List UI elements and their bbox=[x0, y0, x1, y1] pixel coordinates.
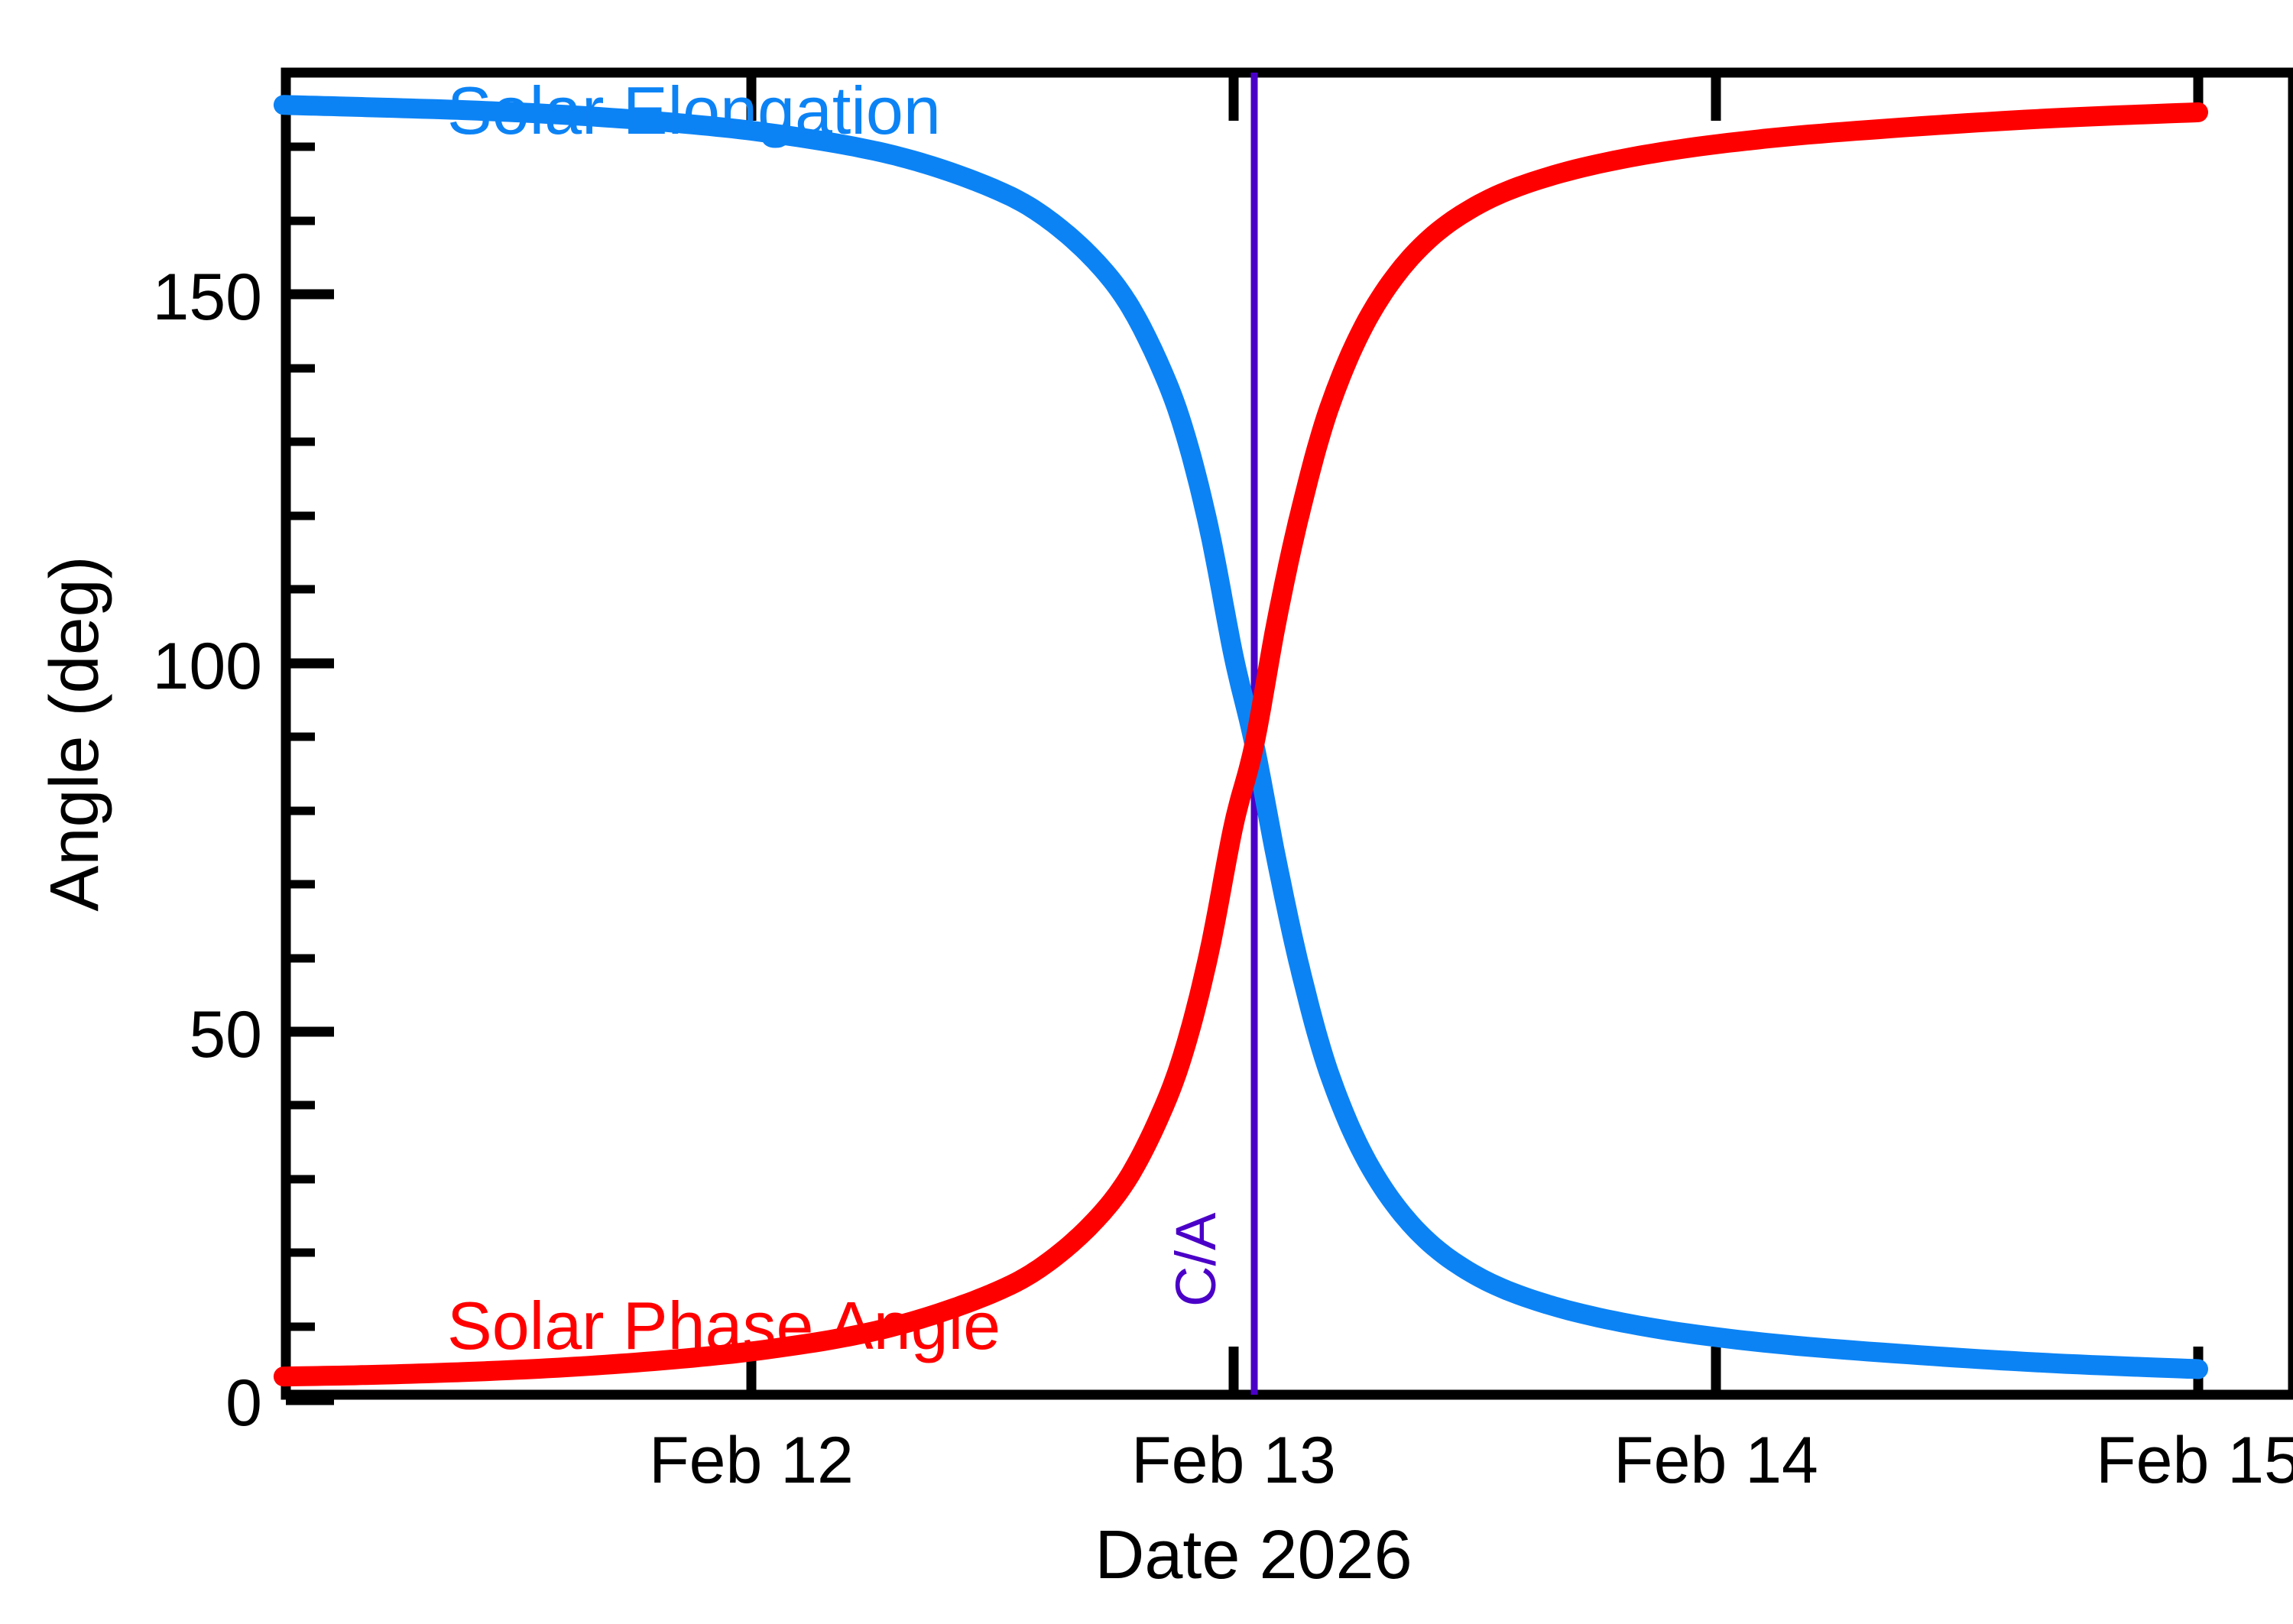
y-tick-label-0: 0 bbox=[225, 1366, 262, 1440]
x-axis-title: Date 2026 bbox=[1095, 1517, 1412, 1593]
y-axis-title: Angle (deg) bbox=[37, 556, 113, 911]
x-tick-label-feb-12: Feb 12 bbox=[649, 1424, 854, 1497]
y-tick-label-150: 150 bbox=[153, 261, 263, 334]
close-approach-label: C/A bbox=[1164, 1212, 1228, 1307]
series-label-solar-elongation: Solar Elongation bbox=[447, 73, 941, 148]
x-tick-label-feb-15: Feb 15 bbox=[2096, 1424, 2293, 1497]
chart-page: 150 100 50 0 Feb 12 Feb 13 Feb 14 Feb 15… bbox=[0, 0, 2293, 1624]
y-tick-label-100: 100 bbox=[153, 630, 263, 703]
x-tick-label-feb-13: Feb 13 bbox=[1131, 1424, 1336, 1497]
solar-angle-chart: 150 100 50 0 Feb 12 Feb 13 Feb 14 Feb 15… bbox=[0, 0, 2293, 1624]
x-tick-label-feb-14: Feb 14 bbox=[1614, 1424, 1818, 1497]
series-label-solar-phase-angle: Solar Phase Angle bbox=[447, 1288, 1001, 1363]
y-tick-label-50: 50 bbox=[189, 998, 262, 1071]
